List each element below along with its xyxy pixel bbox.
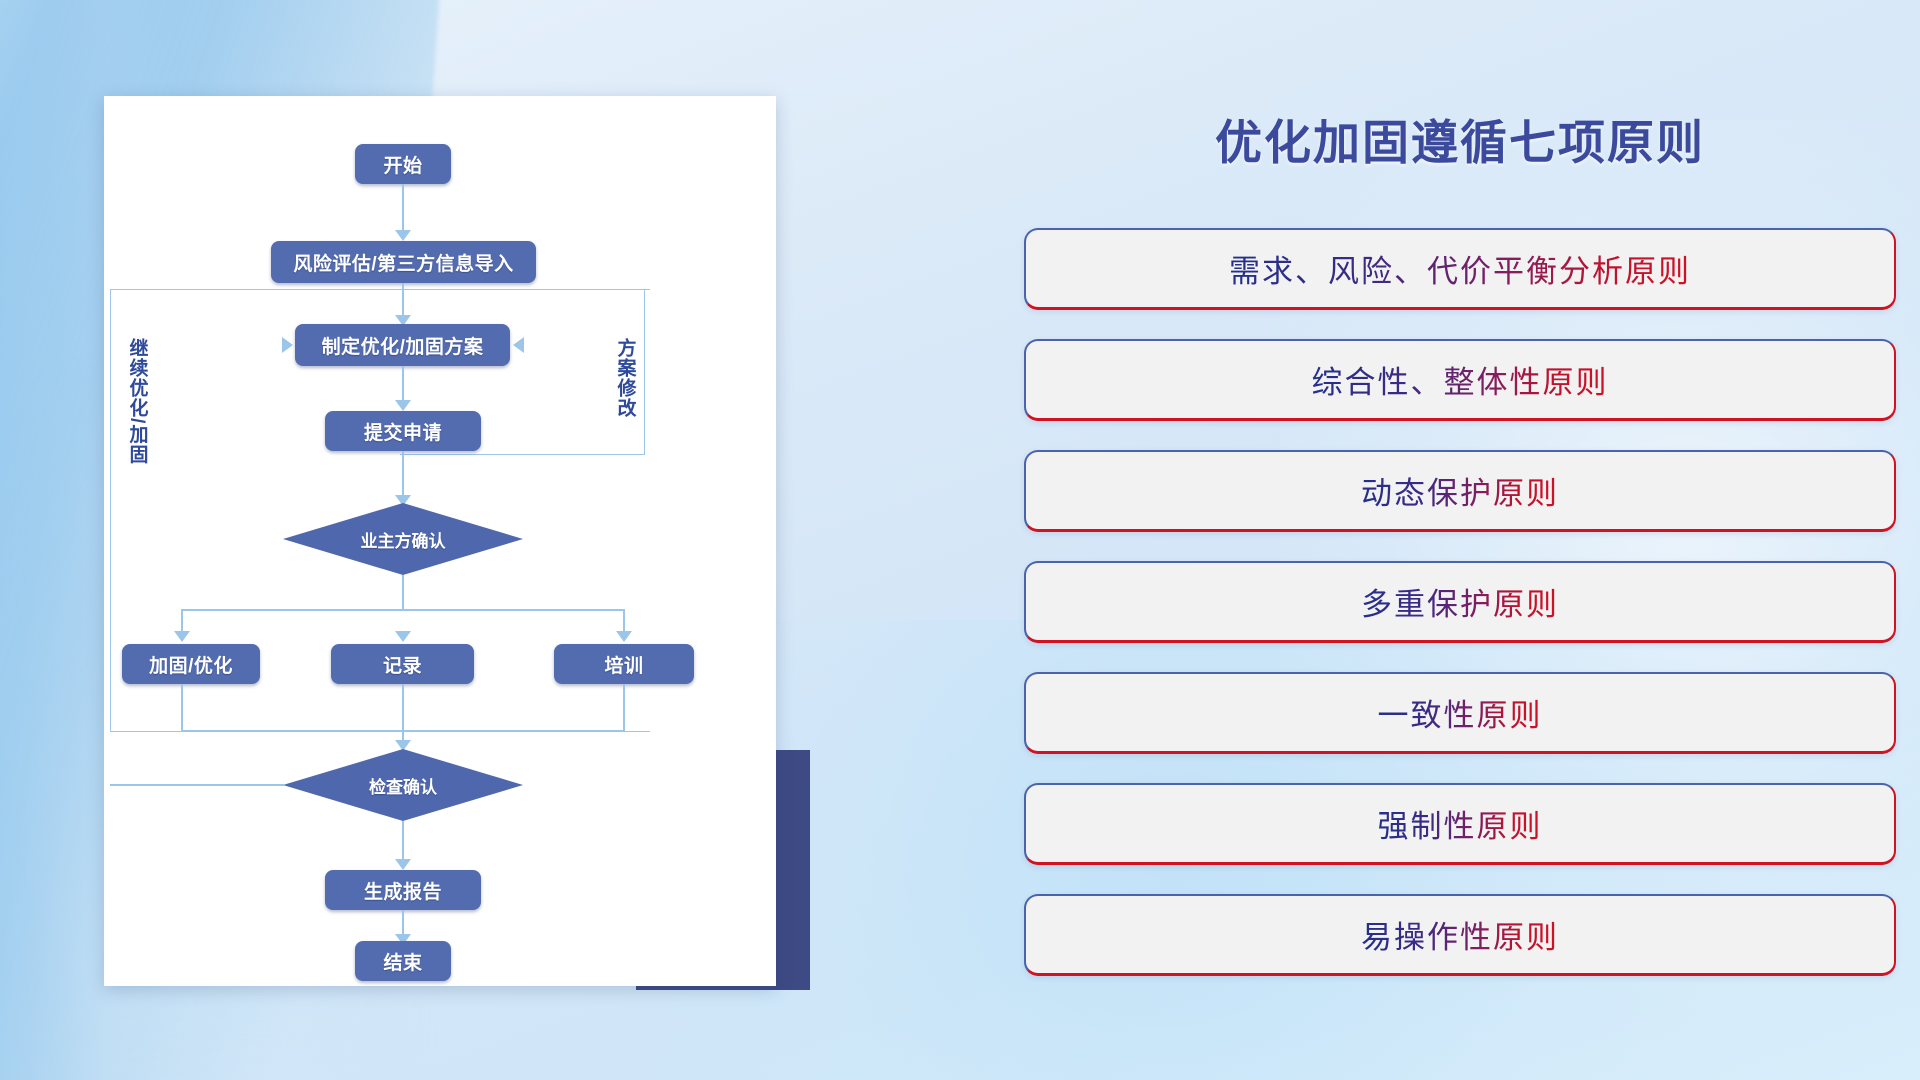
flow-node-report-label: 生成报告 [364,877,442,904]
arrow-right-loop-into-plan [513,337,524,353]
flow-node-end-label: 结束 [383,948,422,975]
edge-label-continue-optimize: 继续优化/加固 [126,338,147,508]
connector-training-to-merge [623,684,625,732]
arrow-left-loop-into-plan [282,337,293,353]
principle-card-3-label: 动态保护原则 [1361,468,1559,513]
flow-node-plan[interactable]: 制定优化/加固方案 [295,324,510,366]
panel-title: 优化加固遵循七项原则 [1000,104,1920,173]
flow-node-check-confirm-label: 检查确认 [369,773,437,798]
principle-card-4[interactable]: 多重保护原则 [1024,561,1896,643]
arrow-check-to-report [395,859,411,870]
arrow-plan-to-submit [395,400,411,411]
flow-node-start-label: 开始 [383,151,422,178]
principle-card-3[interactable]: 动态保护原则 [1024,450,1896,532]
connector-reinforce-to-merge [181,684,183,732]
arrow-split-to-reinforce [174,631,190,642]
arrow-split-to-record [395,631,411,642]
principle-card-1-label: 需求、风险、代价平衡分析原则 [1229,246,1691,291]
principles-card-list: 需求、风险、代价平衡分析原则 综合性、整体性原则 动态保护原则 多重保护原则 一… [1024,228,1896,1005]
flow-node-record-label: 记录 [383,651,422,678]
principle-card-6[interactable]: 强制性原则 [1024,783,1896,865]
connector-check-to-left-loop [110,784,285,786]
principle-card-1[interactable]: 需求、风险、代价平衡分析原则 [1024,228,1896,310]
principle-card-2[interactable]: 综合性、整体性原则 [1024,339,1896,421]
arrow-start-to-risk [395,230,411,241]
principle-card-5-label: 一致性原则 [1378,690,1543,735]
flow-node-report[interactable]: 生成报告 [325,870,481,910]
connector-owner-to-split [402,575,404,611]
flow-node-plan-label: 制定优化/加固方案 [322,332,484,359]
connector-start-to-risk [402,184,404,236]
principle-card-5[interactable]: 一致性原则 [1024,672,1896,754]
flow-node-owner-confirm-label: 业主方确认 [361,527,446,552]
flowchart-region: 开始 风险评估/第三方信息导入 制定优化/加固方案 提交申请 业主方确认 [0,0,860,1080]
principle-card-7-label: 易操作性原则 [1361,912,1559,957]
principle-card-2-label: 综合性、整体性原则 [1312,357,1609,402]
flow-node-training[interactable]: 培训 [554,644,694,684]
flow-node-submit-label: 提交申请 [364,418,442,445]
flow-node-check-confirm[interactable]: 检查确认 [283,749,523,821]
flow-node-submit[interactable]: 提交申请 [325,411,481,451]
split-bar-owner [181,609,625,611]
flow-node-risk-assessment-label: 风险评估/第三方信息导入 [293,249,513,276]
principles-region: 优化加固遵循七项原则 需求、风险、代价平衡分析原则 综合性、整体性原则 动态保护… [1000,0,1920,1080]
flow-node-risk-assessment[interactable]: 风险评估/第三方信息导入 [271,241,536,283]
connector-submit-to-owner [402,451,404,501]
principle-card-4-label: 多重保护原则 [1361,579,1559,624]
flow-node-reinforce[interactable]: 加固/优化 [122,644,260,684]
flowchart-card: 开始 风险评估/第三方信息导入 制定优化/加固方案 提交申请 业主方确认 [104,96,776,986]
flow-node-end[interactable]: 结束 [355,941,451,981]
arrow-split-to-train [616,631,632,642]
flow-node-training-label: 培训 [604,651,643,678]
flow-node-reinforce-label: 加固/优化 [149,651,233,678]
principle-card-7[interactable]: 易操作性原则 [1024,894,1896,976]
flow-node-start[interactable]: 开始 [355,144,451,184]
flow-node-record[interactable]: 记录 [331,644,474,684]
principle-card-6-label: 强制性原则 [1378,801,1543,846]
edge-label-plan-revision: 方案修改 [614,338,635,448]
connector-record-to-check [402,684,404,746]
